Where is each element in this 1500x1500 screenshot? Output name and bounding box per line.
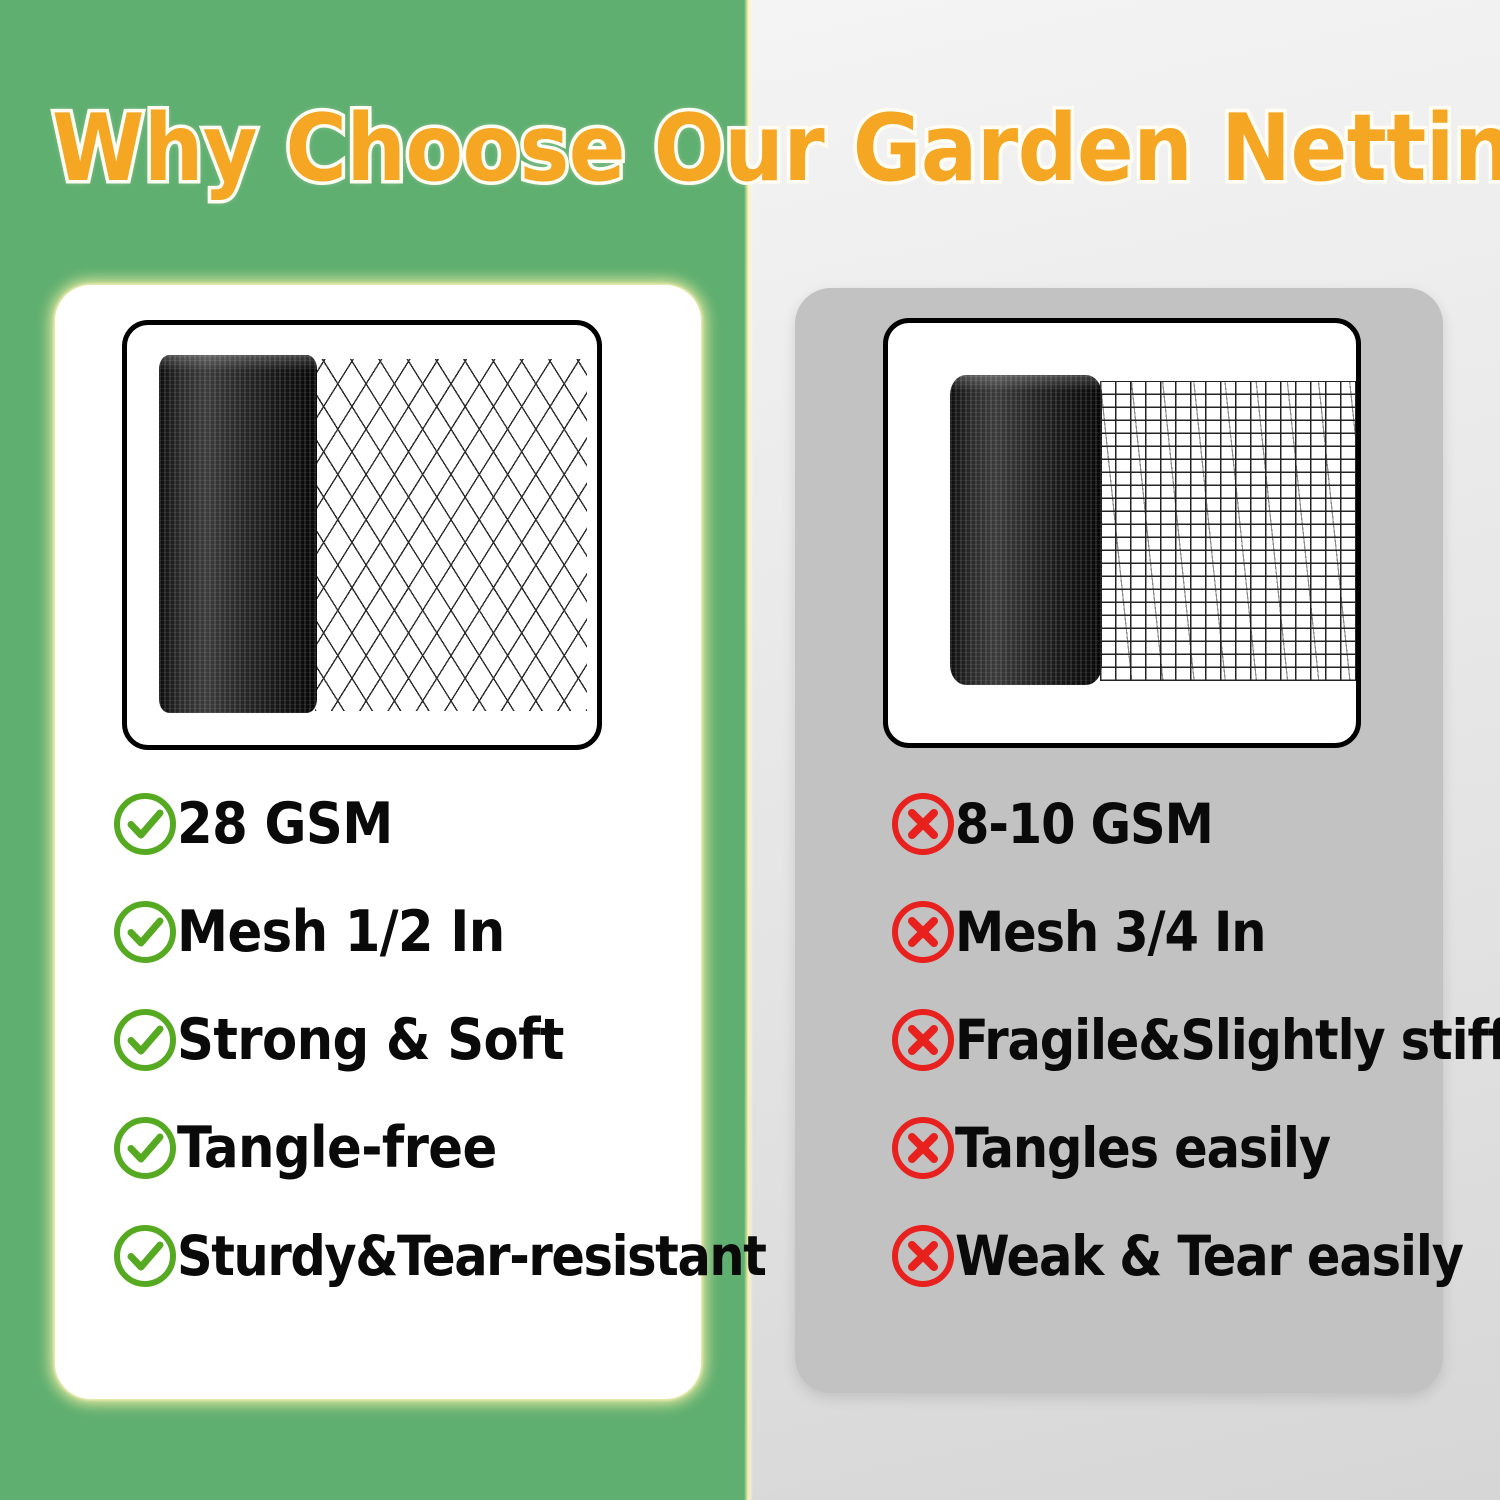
list-item: Strong & Soft (110, 986, 750, 1094)
list-item: Mesh 3/4 In (888, 878, 1488, 986)
cross-circle-icon (888, 1221, 958, 1291)
list-item: Fragile&Slightly stiff (888, 986, 1488, 1094)
list-item-label: 8-10 GSM (955, 793, 1213, 855)
grid-mesh-pattern (1100, 381, 1358, 681)
list-item: Mesh 1/2 In (110, 878, 750, 986)
list-item-label: Tangles easily (955, 1117, 1330, 1179)
page-title: Why Choose Our Garden Netting? (0, 96, 1500, 200)
comparison-infographic: Why Choose Our Garden Netting? 28 GSM (0, 0, 1500, 1500)
check-circle-icon (110, 1221, 180, 1291)
netting-roll (950, 375, 1102, 685)
our-product-photo-frame (122, 320, 602, 750)
list-item: Tangles easily (888, 1094, 1488, 1202)
other-product-photo (888, 323, 1356, 743)
list-item-label: Weak & Tear easily (955, 1225, 1463, 1287)
cross-circle-icon (888, 1113, 958, 1183)
list-item-label: Tangle-free (177, 1117, 497, 1179)
our-product-photo (127, 325, 597, 745)
list-item: Sturdy&Tear-resistant (110, 1202, 750, 1310)
diamond-mesh-pattern (315, 359, 587, 711)
list-item-label: Strong & Soft (177, 1009, 564, 1071)
list-item-label: 28 GSM (177, 793, 393, 855)
list-item: Tangle-free (110, 1094, 750, 1202)
check-circle-icon (110, 1005, 180, 1075)
list-item: 8-10 GSM (888, 770, 1488, 878)
list-item-label: Mesh 1/2 In (177, 901, 505, 963)
check-circle-icon (110, 897, 180, 967)
list-item: Weak & Tear easily (888, 1202, 1488, 1310)
other-product-photo-frame (883, 318, 1361, 748)
list-item-label: Sturdy&Tear-resistant (177, 1225, 766, 1287)
list-item: 28 GSM (110, 770, 750, 878)
check-circle-icon (110, 1113, 180, 1183)
other-product-feature-list: 8-10 GSM Mesh 3/4 In Fragile&Slightly st… (888, 770, 1488, 1310)
cross-circle-icon (888, 789, 958, 859)
cross-circle-icon (888, 897, 958, 967)
list-item-label: Mesh 3/4 In (955, 901, 1265, 963)
our-product-feature-list: 28 GSM Mesh 1/2 In Strong & Soft Tangle-… (110, 770, 750, 1310)
cross-circle-icon (888, 1005, 958, 1075)
netting-roll (159, 355, 317, 713)
check-circle-icon (110, 789, 180, 859)
list-item-label: Fragile&Slightly stiff (955, 1009, 1500, 1071)
